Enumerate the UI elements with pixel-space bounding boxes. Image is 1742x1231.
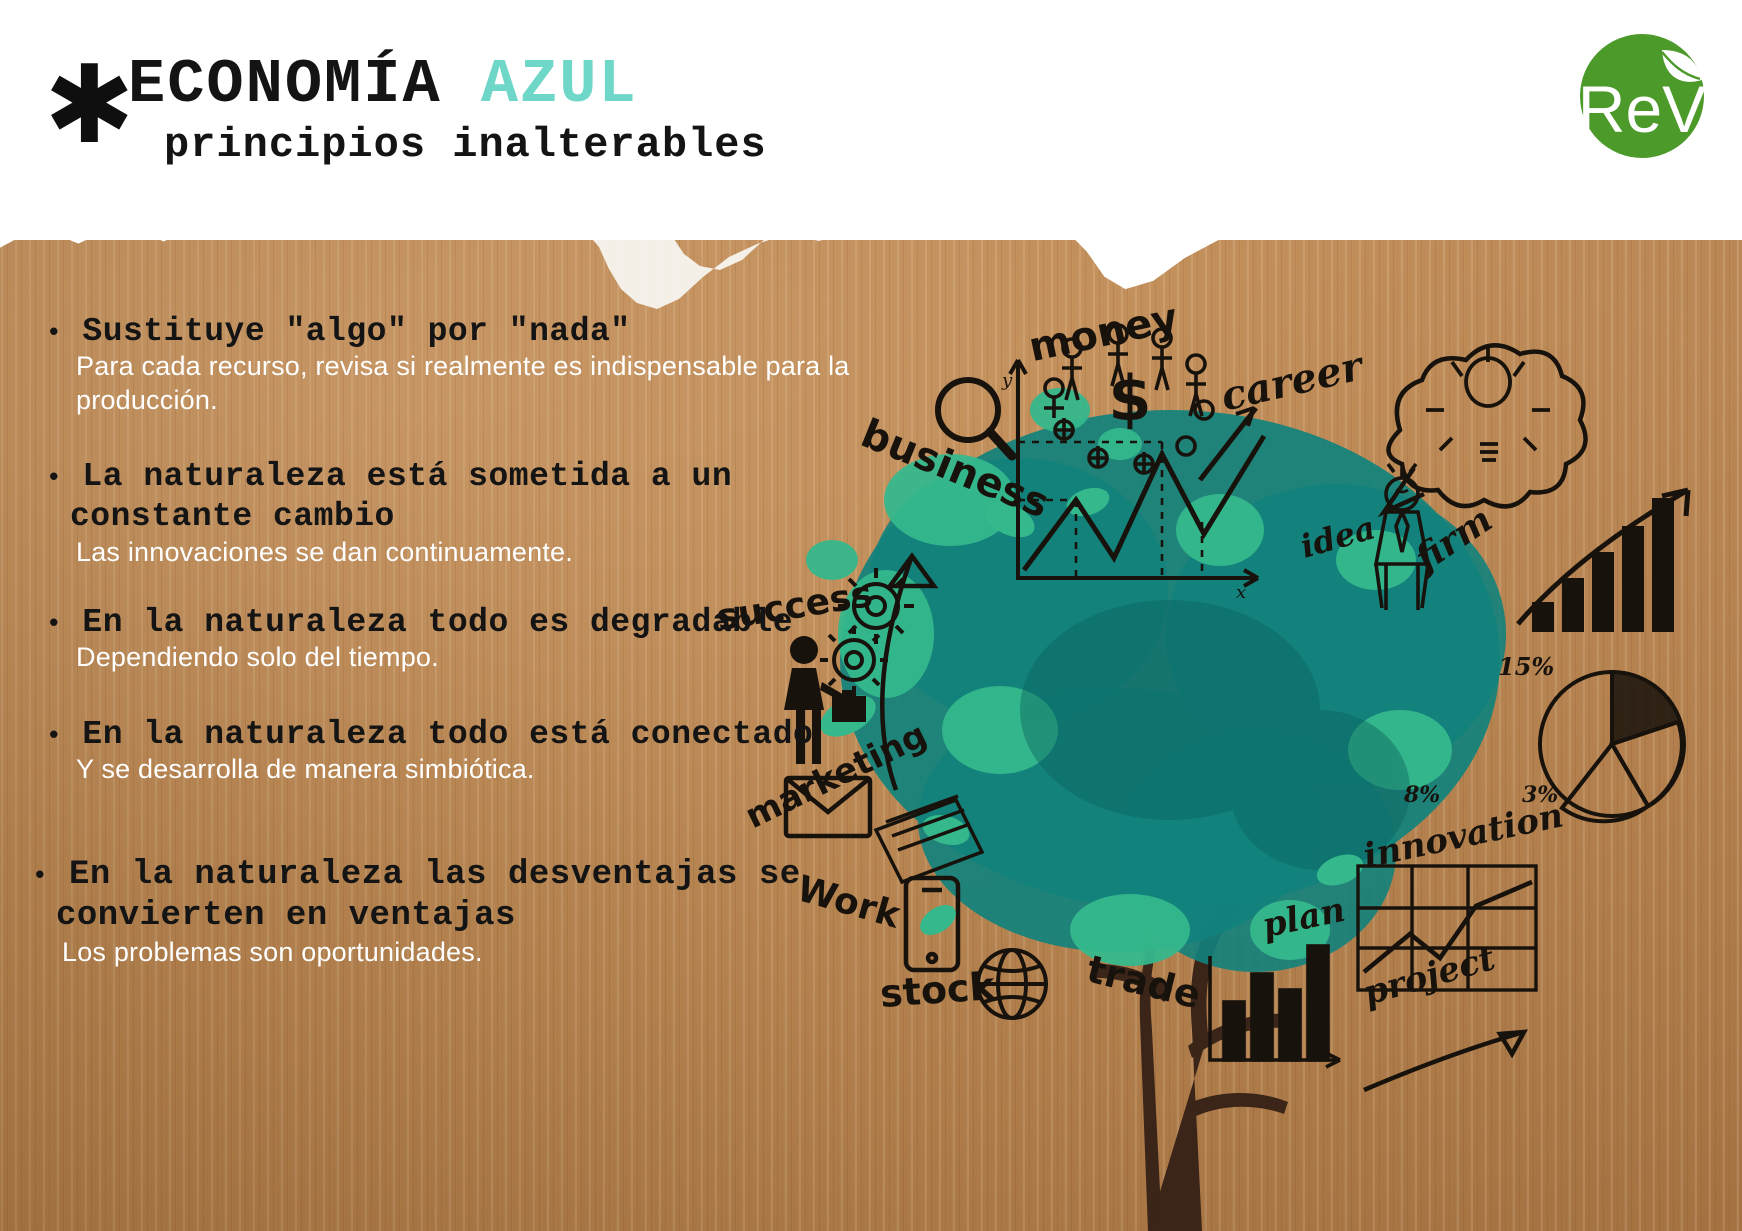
principle-heading-text-3: En la naturaleza todo es degradable xyxy=(82,604,793,641)
bullet-icon: • xyxy=(46,721,62,751)
principle-item-5: • En la naturaleza las desventajas se co… xyxy=(32,855,876,969)
rev-logo[interactable]: ReV xyxy=(1576,28,1712,164)
principle-item-4: • En la naturaleza todo está conectado Y… xyxy=(46,715,876,787)
principle-heading-text-2: La naturaleza está sometida a un constan… xyxy=(70,458,732,535)
x-axis-label: x xyxy=(1236,582,1246,603)
lightbulb-speech-icon xyxy=(1384,345,1586,512)
logo-wordmark: ReV xyxy=(1578,72,1706,146)
project-arrow-icon xyxy=(1364,1032,1524,1090)
asterisk-icon: ✱ xyxy=(44,60,128,152)
title-accent-text: AZUL xyxy=(481,49,638,120)
phone-leaf-icon xyxy=(915,899,962,941)
page-title: ECONOMÍA AZUL xyxy=(128,52,767,117)
principle-heading-2: • La naturaleza está sometida a un const… xyxy=(46,457,876,538)
principle-sub-1: Para cada recurso, revisa si realmente e… xyxy=(46,350,876,417)
principle-heading-text-1: Sustituye "algo" por "nada" xyxy=(82,313,630,350)
principle-heading-5: • En la naturaleza las desventajas se co… xyxy=(32,855,876,938)
title-main-text: ECONOMÍA xyxy=(128,49,442,120)
principle-heading-text-5: En la naturaleza las desventajas se conv… xyxy=(56,856,801,935)
poster-canvas: ✱ ECONOMÍA AZUL principios inalterables … xyxy=(0,0,1742,1231)
page-subtitle: principios inalterables xyxy=(164,121,767,169)
principle-sub-4: Y se desarrolla de manera simbiótica. xyxy=(46,753,876,786)
rev-logo-mark: ReV xyxy=(1576,28,1712,164)
principle-heading-3: • En la naturaleza todo es degradable xyxy=(46,603,876,643)
principle-item-3: • En la naturaleza todo es degradable De… xyxy=(46,603,876,675)
doodle-label-stock: stock xyxy=(879,964,996,1016)
principle-sub-3: Dependiendo solo del tiempo. xyxy=(46,641,876,674)
y-axis-label: y xyxy=(1001,370,1013,391)
bullet-icon: • xyxy=(46,318,62,348)
dollar-icon: $ xyxy=(1108,362,1151,435)
pie-label-8: 8% xyxy=(1404,782,1440,808)
principle-heading-text-4: En la naturaleza todo está conectado xyxy=(82,716,813,753)
pie-chart-icon xyxy=(1540,672,1684,821)
principle-heading-4: • En la naturaleza todo está conectado xyxy=(46,715,876,755)
principle-item-1: • Sustituye "algo" por "nada" Para cada … xyxy=(46,312,876,417)
bar-chart-icon xyxy=(1532,498,1674,632)
principle-heading-1: • Sustituye "algo" por "nada" xyxy=(46,312,876,352)
bullet-icon: • xyxy=(46,609,62,639)
principle-sub-2: Las innovaciones se dan continuamente. xyxy=(46,536,876,569)
principle-sub-5: Los problemas son oportunidades. xyxy=(32,936,876,969)
principle-item-2: • La naturaleza está sometida a un const… xyxy=(46,457,876,569)
bullet-icon: • xyxy=(46,463,62,493)
pie-label-15: 15% xyxy=(1498,652,1554,681)
pie-label-3: 3% xyxy=(1522,782,1558,808)
title-block: ✱ ECONOMÍA AZUL principios inalterables xyxy=(44,52,767,169)
bullet-icon: • xyxy=(32,861,48,891)
principles-list: • Sustituye "algo" por "nada" Para cada … xyxy=(46,312,876,995)
